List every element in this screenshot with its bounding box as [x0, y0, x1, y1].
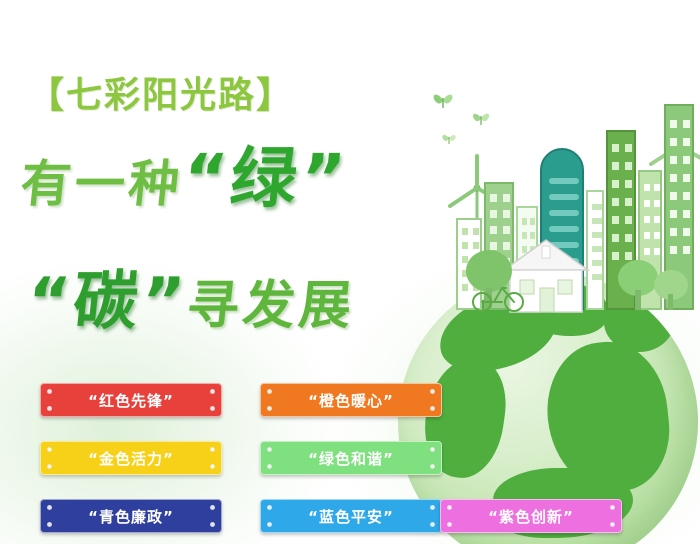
tag-label: “紫色创新”: [488, 506, 574, 527]
tag-label: “橙色暖心”: [308, 390, 394, 411]
screw-icon: [47, 522, 52, 527]
screw-icon: [610, 505, 615, 510]
screw-icon: [430, 406, 435, 411]
tag-label: “金色活力”: [88, 448, 174, 469]
tag-label: “蓝色平安”: [308, 506, 394, 527]
screw-icon: [210, 522, 215, 527]
screw-icon: [267, 505, 272, 510]
headline-line-3-suffix: 寻发展: [184, 276, 358, 336]
tag-label: “绿色和谐”: [308, 448, 394, 469]
screw-icon: [210, 464, 215, 469]
butterfly-icon: [440, 130, 458, 147]
screw-icon: [267, 464, 272, 469]
tag-blue-safety[interactable]: “蓝色平安”: [260, 499, 442, 533]
screw-icon: [267, 522, 272, 527]
screw-icon: [430, 505, 435, 510]
headline-line-3-quoted: “碳”: [23, 265, 191, 339]
screw-icon: [430, 522, 435, 527]
screw-icon: [447, 522, 452, 527]
tag-purple-innovation[interactable]: “紫色创新”: [440, 499, 622, 533]
screw-icon: [430, 389, 435, 394]
tree-trunk: [668, 294, 673, 310]
screw-icon: [210, 406, 215, 411]
tree-trunk: [635, 290, 641, 310]
screw-icon: [267, 406, 272, 411]
screw-icon: [210, 389, 215, 394]
headline-block: 【七彩阳光路】: [28, 66, 478, 118]
tag-gold-vitality[interactable]: “金色活力”: [40, 441, 222, 475]
tag-label: “青色廉政”: [88, 506, 174, 527]
screw-icon: [447, 505, 452, 510]
tag-cyan-integrity[interactable]: “青色廉政”: [40, 499, 222, 533]
tag-green-harmony[interactable]: “绿色和谐”: [260, 441, 442, 475]
headline-line-2: 有一种“绿”: [17, 125, 354, 221]
headline-line-2-prefix: 有一种: [18, 155, 186, 213]
tag-label: “红色先锋”: [88, 390, 174, 411]
bracket-title: 【七彩阳光路】: [28, 66, 478, 118]
screw-icon: [267, 447, 272, 452]
screw-icon: [47, 389, 52, 394]
poster-canvas: 【七彩阳光路】 有一种“绿” “碳”寻发展 “红色先锋” “橙色暖心” “金: [0, 0, 700, 544]
headline-line-2-quoted: “绿”: [179, 140, 352, 217]
screw-icon: [47, 464, 52, 469]
headline-line-3: “碳”寻发展: [23, 250, 361, 342]
screw-icon: [47, 447, 52, 452]
screw-icon: [430, 447, 435, 452]
screw-icon: [430, 464, 435, 469]
tag-orange-warmheart[interactable]: “橙色暖心”: [260, 383, 442, 417]
screw-icon: [47, 505, 52, 510]
screw-icon: [610, 522, 615, 527]
screw-icon: [47, 406, 52, 411]
color-tag-group: “红色先锋” “橙色暖心” “金色活力” “绿色和谐”: [40, 383, 660, 538]
bicycle-icon: [470, 280, 526, 312]
screw-icon: [267, 389, 272, 394]
screw-icon: [210, 447, 215, 452]
screw-icon: [210, 505, 215, 510]
tag-red-pioneer[interactable]: “红色先锋”: [40, 383, 222, 417]
